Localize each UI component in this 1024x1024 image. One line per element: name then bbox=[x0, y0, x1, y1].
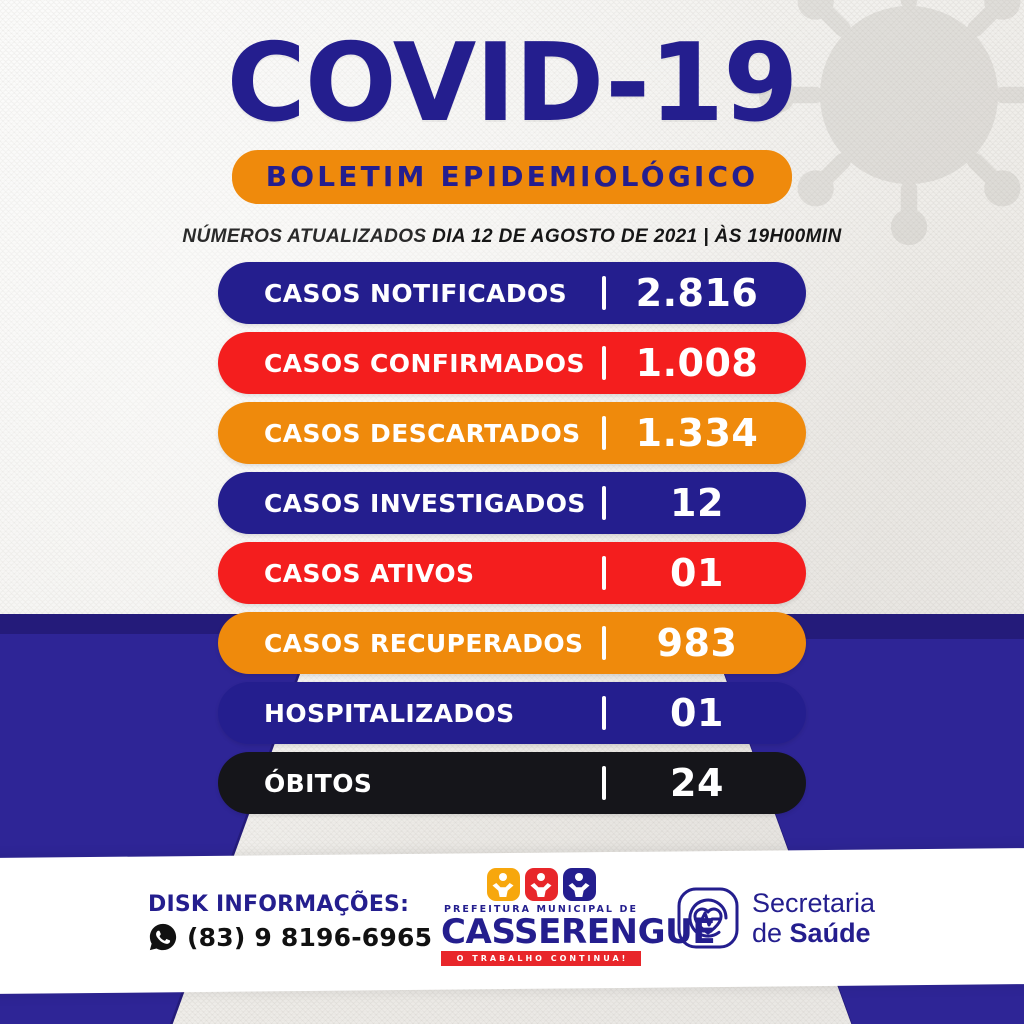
stat-label: ÓBITOS bbox=[218, 769, 602, 798]
stat-value: 1.334 bbox=[606, 411, 806, 455]
stat-label: CASOS CONFIRMADOS bbox=[218, 349, 602, 378]
whatsapp-icon[interactable] bbox=[148, 922, 178, 952]
stat-label: CASOS RECUPERADOS bbox=[218, 629, 602, 658]
city-logo-figures bbox=[441, 868, 641, 901]
stat-value: 01 bbox=[606, 691, 806, 735]
heart-pulse-icon bbox=[676, 886, 740, 950]
city-hall-logo: PREFEITURA MUNICIPAL DE CASSERENGUE O TR… bbox=[441, 868, 641, 966]
stat-label: HOSPITALIZADOS bbox=[218, 699, 602, 728]
stat-value: 1.008 bbox=[606, 341, 806, 385]
health-line-2-bold: Saúde bbox=[790, 918, 871, 948]
stat-value: 12 bbox=[606, 481, 806, 525]
health-department-name: Secretaria de Saúde bbox=[752, 888, 875, 948]
stat-label: CASOS INVESTIGADOS bbox=[218, 489, 602, 518]
stat-pill: CASOS INVESTIGADOS12 bbox=[218, 472, 806, 534]
page-title: COVID-19 bbox=[0, 0, 1024, 138]
health-line-1: Secretaria bbox=[752, 888, 875, 918]
stat-value: 01 bbox=[606, 551, 806, 595]
disk-informacoes-block: DISK INFORMAÇÕES: (83) 9 8196-6965 bbox=[148, 892, 432, 952]
health-line-2-light: de bbox=[752, 918, 790, 948]
covid-bulletin-poster: COVID-19 BOLETIM EPIDEMIOLÓGICO NÚMEROS … bbox=[0, 0, 1024, 1024]
logo-figure-red bbox=[525, 868, 558, 901]
logo-figure-yellow bbox=[487, 868, 520, 901]
city-logo-tagline: O TRABALHO CONTINUA! bbox=[441, 951, 641, 966]
phone-row[interactable]: (83) 9 8196-6965 bbox=[148, 922, 432, 952]
stat-pill: ÓBITOS24 bbox=[218, 752, 806, 814]
disk-phone-number[interactable]: (83) 9 8196-6965 bbox=[187, 923, 432, 952]
stat-pill: HOSPITALIZADOS01 bbox=[218, 682, 806, 744]
stat-pill: CASOS NOTIFICADOS2.816 bbox=[218, 262, 806, 324]
stat-label: CASOS ATIVOS bbox=[218, 559, 602, 588]
update-date: DIA 12 DE AGOSTO DE 2021 | ÀS 19H00MIN bbox=[432, 226, 841, 247]
update-timestamp: NÚMEROS ATUALIZADOS DIA 12 DE AGOSTO DE … bbox=[0, 226, 1024, 248]
stat-pill: CASOS DESCARTADOS1.334 bbox=[218, 402, 806, 464]
disk-informacoes-label: DISK INFORMAÇÕES: bbox=[148, 892, 432, 917]
statistics-list: CASOS NOTIFICADOS2.816CASOS CONFIRMADOS1… bbox=[218, 262, 806, 822]
poster-header: COVID-19 BOLETIM EPIDEMIOLÓGICO NÚMEROS … bbox=[0, 0, 1024, 248]
stat-value: 983 bbox=[606, 621, 806, 665]
stat-pill: CASOS CONFIRMADOS1.008 bbox=[218, 332, 806, 394]
stat-label: CASOS NOTIFICADOS bbox=[218, 279, 602, 308]
city-logo-name: CASSERENGUE bbox=[441, 915, 641, 950]
footer-content: DISK INFORMAÇÕES: (83) 9 8196-6965 PREFE… bbox=[0, 856, 1024, 986]
health-department-logo: Secretaria de Saúde bbox=[676, 886, 875, 950]
update-prefix: NÚMEROS ATUALIZADOS bbox=[182, 226, 432, 247]
stat-label: CASOS DESCARTADOS bbox=[218, 419, 602, 448]
stat-pill: CASOS RECUPERADOS983 bbox=[218, 612, 806, 674]
stat-value: 24 bbox=[606, 761, 806, 805]
stat-value: 2.816 bbox=[606, 271, 806, 315]
stat-pill: CASOS ATIVOS01 bbox=[218, 542, 806, 604]
subtitle-badge: BOLETIM EPIDEMIOLÓGICO bbox=[232, 150, 793, 204]
logo-figure-navy bbox=[563, 868, 596, 901]
